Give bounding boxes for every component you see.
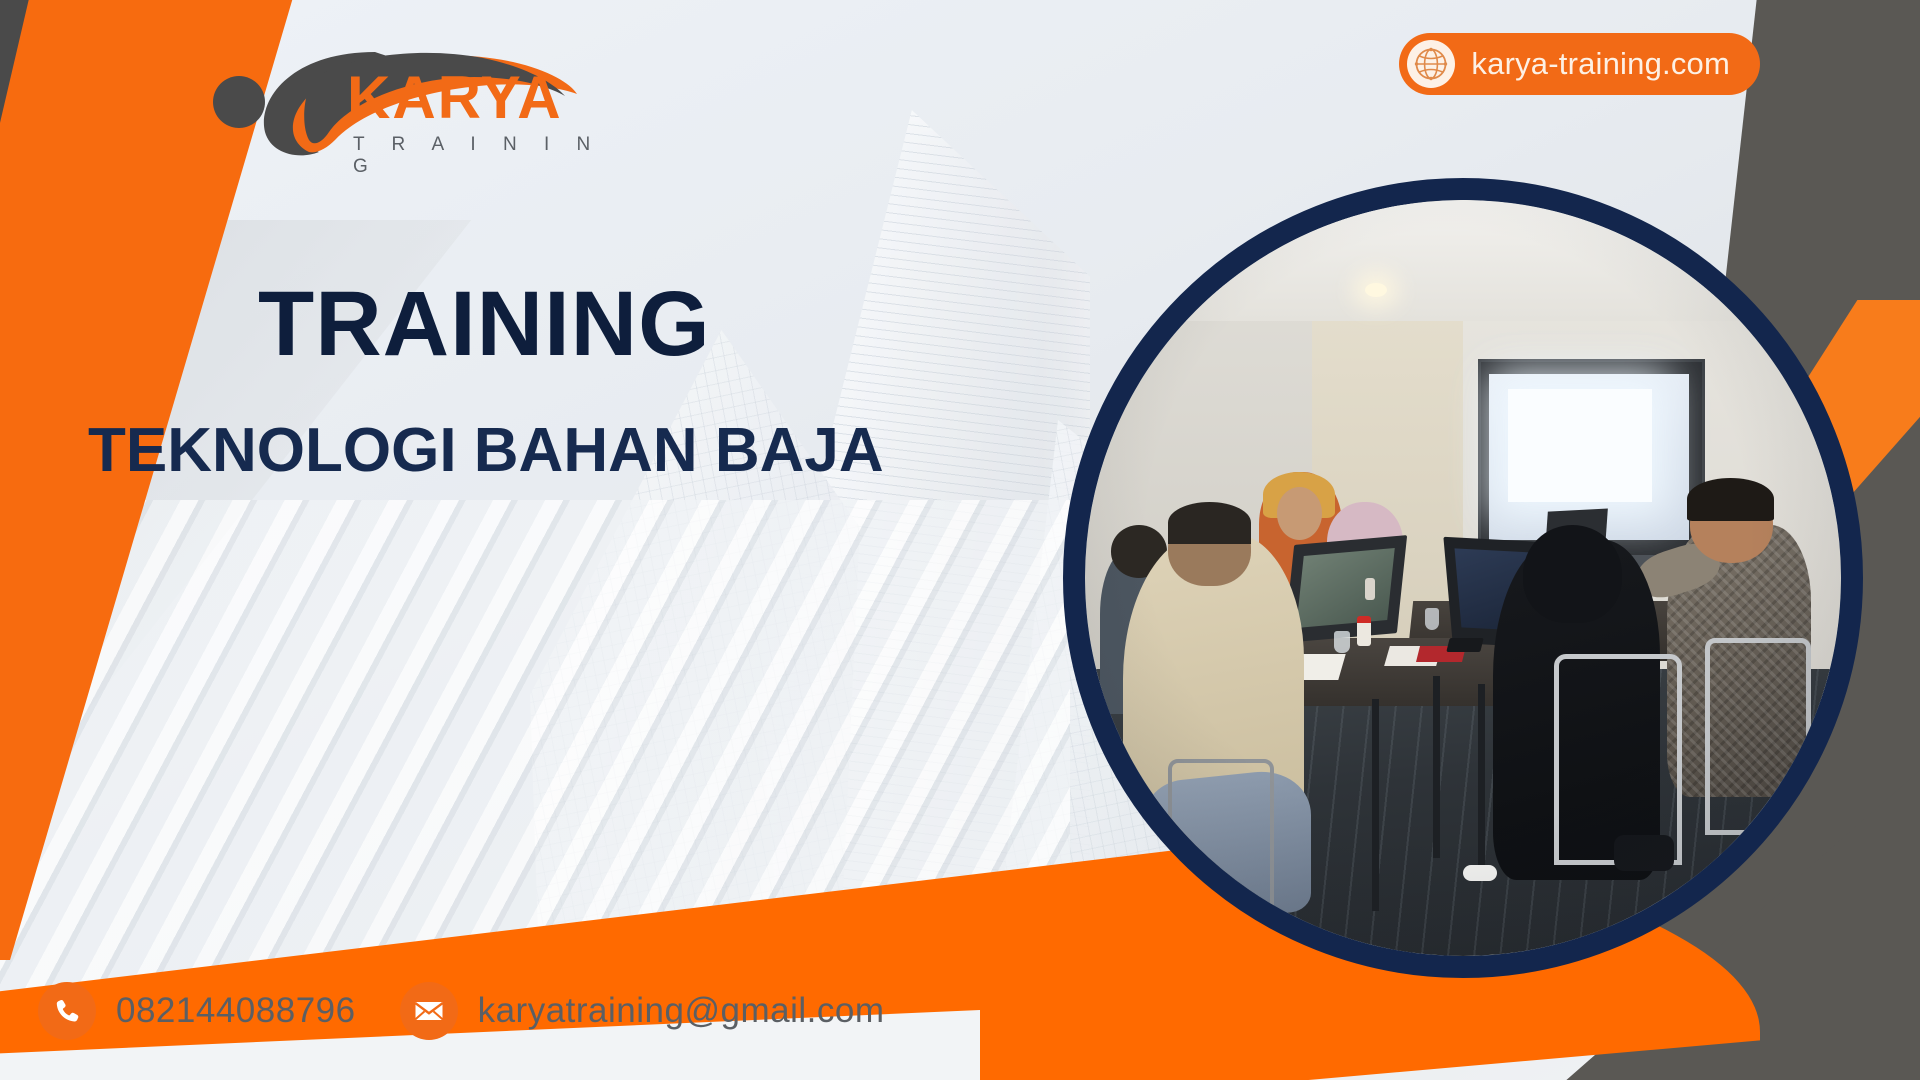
logo-tagline: T R A I N I N G	[353, 134, 625, 178]
page-title: TRAINING	[258, 278, 711, 370]
phone-icon	[38, 982, 96, 1040]
website-badge[interactable]: karya-training.com	[1399, 33, 1760, 95]
page-subtitle: TEKNOLOGI BAHAN BAJA	[88, 420, 884, 482]
email-address-text: karyatraining@gmail.com	[478, 991, 885, 1031]
training-photo	[1063, 178, 1863, 978]
poster-canvas: KARYA T R A I N I N G karya-training.com…	[0, 0, 1920, 1080]
globe-icon	[1407, 40, 1455, 88]
phone-number-text: 082144088796	[116, 991, 356, 1031]
contact-bar: 082144088796 karyatraining@gmail.com	[38, 982, 884, 1040]
contact-email[interactable]: karyatraining@gmail.com	[400, 982, 885, 1040]
website-url-text: karya-training.com	[1471, 46, 1730, 82]
logo-wordmark: KARYA	[347, 68, 563, 128]
training-photo-inner	[1085, 200, 1841, 956]
contact-phone[interactable]: 082144088796	[38, 982, 356, 1040]
envelope-icon	[400, 982, 458, 1040]
brand-logo[interactable]: KARYA T R A I N I N G	[205, 38, 625, 158]
